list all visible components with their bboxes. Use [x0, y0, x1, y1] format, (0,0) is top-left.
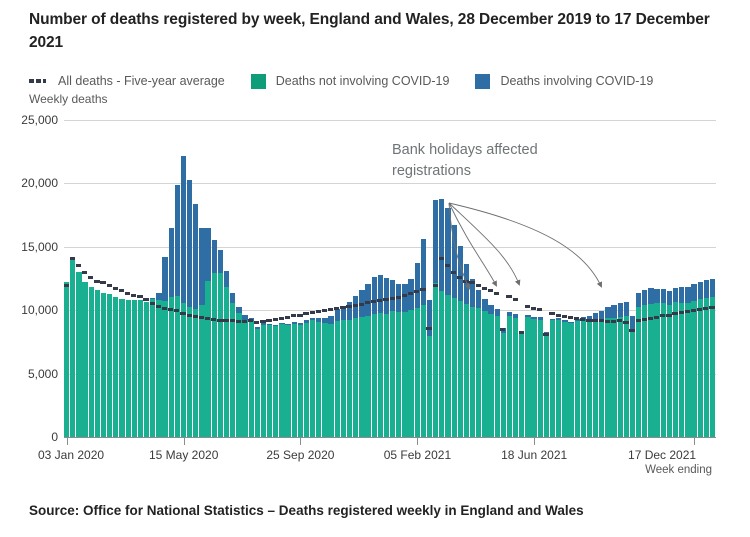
- bar-segment-non-covid: [169, 297, 174, 437]
- bar-segment-non-covid: [642, 305, 647, 437]
- five-year-average-marker: [457, 276, 462, 279]
- five-year-average-marker: [654, 316, 659, 319]
- bar-segment-non-covid: [175, 296, 180, 437]
- bar-segment-covid: [322, 318, 327, 324]
- bar-segment-non-covid: [126, 300, 131, 437]
- bar-segment-non-covid: [556, 320, 561, 437]
- five-year-average-marker: [439, 257, 444, 260]
- legend-label-covid: Deaths involving COVID-19: [500, 74, 653, 88]
- bar-segment-non-covid: [587, 320, 592, 437]
- five-year-average-marker: [383, 298, 388, 301]
- five-year-average-marker: [451, 271, 456, 274]
- five-year-average-marker: [359, 303, 364, 306]
- bar-segment-covid: [704, 280, 709, 298]
- bar-segment-non-covid: [661, 303, 666, 437]
- bar-segment-covid: [162, 257, 167, 301]
- five-year-average-marker: [174, 309, 179, 312]
- y-axis-tick-label: 25,000: [2, 113, 58, 127]
- bar-segment-covid: [304, 320, 309, 322]
- bar-segment-non-covid: [372, 314, 377, 437]
- bar-segment-non-covid: [704, 298, 709, 437]
- x-axis-tick: [694, 438, 695, 445]
- five-year-average-marker: [592, 319, 597, 322]
- five-year-average-marker: [709, 306, 714, 309]
- bar-segment-covid: [556, 318, 561, 320]
- bar-segment-covid: [279, 323, 284, 324]
- bar-segment-covid: [445, 208, 450, 296]
- bar-segment-non-covid: [667, 305, 672, 437]
- bar-segment-covid: [439, 199, 444, 291]
- bar-segment-non-covid: [310, 320, 315, 437]
- five-year-average-marker: [266, 319, 271, 322]
- bar-segment-covid: [310, 318, 315, 321]
- five-year-average-marker: [599, 319, 604, 322]
- bar-segment-covid: [538, 317, 543, 319]
- five-year-average-marker: [519, 331, 524, 334]
- bar-segment-covid: [507, 312, 512, 316]
- bar-segment-non-covid: [199, 305, 204, 437]
- bar-segment-covid: [605, 307, 610, 318]
- bar-segment-covid: [230, 293, 235, 303]
- bar-segment-non-covid: [267, 325, 272, 437]
- bar-segment-covid: [212, 240, 217, 273]
- bar-segment-non-covid: [378, 313, 383, 437]
- five-year-average-marker: [242, 320, 247, 323]
- five-year-average-marker: [531, 307, 536, 310]
- five-year-average-marker: [623, 321, 628, 324]
- bar-segment-non-covid: [427, 336, 432, 437]
- bar-segment-covid: [261, 323, 266, 325]
- five-year-average-marker: [94, 280, 99, 283]
- x-axis-tick: [67, 438, 68, 445]
- x-axis-tick-label: 15 May 2020: [149, 448, 218, 462]
- five-year-average-marker: [76, 264, 81, 267]
- five-year-average-marker: [143, 298, 148, 301]
- five-year-average-marker: [254, 321, 259, 324]
- bar-segment-non-covid: [648, 304, 653, 437]
- bar-segment-non-covid: [562, 322, 567, 437]
- bar-segment-non-covid: [64, 282, 69, 437]
- y-axis-title: Weekly deaths: [29, 92, 108, 106]
- bar-segment-non-covid: [507, 316, 512, 437]
- bar-segment-covid: [193, 204, 198, 308]
- bar-segment-non-covid: [408, 310, 413, 437]
- bar-segment-covid: [618, 303, 623, 317]
- source-note: Source: Office for National Statistics –…: [29, 503, 584, 518]
- bar-segment-non-covid: [605, 318, 610, 437]
- bar-segment-non-covid: [421, 305, 426, 437]
- bar-segment-covid: [267, 324, 272, 325]
- five-year-average-marker: [113, 287, 118, 290]
- bar-segment-non-covid: [495, 316, 500, 437]
- y-axis-tick-label: 0: [2, 430, 58, 444]
- five-year-average-marker: [537, 308, 542, 311]
- bar-segment-covid: [365, 284, 370, 317]
- bar-segment-covid: [292, 322, 297, 323]
- five-year-average-marker: [150, 302, 155, 305]
- bar-segment-non-covid: [636, 307, 641, 437]
- five-year-average-marker: [365, 301, 370, 304]
- bar-segment-non-covid: [193, 309, 198, 437]
- five-year-average-marker: [137, 295, 142, 298]
- x-axis-tick-label: 05 Feb 2021: [384, 448, 451, 462]
- five-year-average-marker: [131, 294, 136, 297]
- bar-segment-non-covid: [212, 273, 217, 437]
- five-year-average-marker: [285, 316, 290, 319]
- bar-segment-non-covid: [710, 297, 715, 437]
- bar-segment-covid: [298, 323, 303, 325]
- five-year-average-marker: [525, 305, 530, 308]
- bar-segment-covid: [458, 246, 463, 301]
- bar-segment-non-covid: [476, 308, 481, 437]
- bar-segment-non-covid: [550, 320, 555, 437]
- bar-segment-non-covid: [452, 298, 457, 437]
- y-axis-tick-label: 5,000: [2, 367, 58, 381]
- bar-segment-covid: [156, 293, 161, 300]
- bar-segment-non-covid: [531, 319, 536, 437]
- bar-segment-covid: [187, 180, 192, 307]
- five-year-average-marker: [396, 296, 401, 299]
- five-year-average-marker: [556, 314, 561, 317]
- bar-segment-covid: [285, 324, 290, 325]
- bar-segment-non-covid: [205, 281, 210, 437]
- bar-segment-non-covid: [396, 312, 401, 437]
- five-year-average-marker: [469, 281, 474, 284]
- x-axis-tick-label: 18 Jun 2021: [501, 448, 567, 462]
- bar-segment-non-covid: [341, 320, 346, 437]
- bar-segment-non-covid: [402, 312, 407, 437]
- page-title: Number of deaths registered by week, Eng…: [29, 8, 719, 54]
- bar-segment-covid: [402, 284, 407, 312]
- bar-segment-covid: [525, 315, 530, 318]
- five-year-average-marker: [199, 316, 204, 319]
- dashed-line-icon: [29, 76, 51, 86]
- bar-segment-non-covid: [458, 301, 463, 437]
- x-axis-tick-label: 03 Jan 2020: [38, 448, 104, 462]
- five-year-average-marker: [334, 307, 339, 310]
- bar-segment-covid: [255, 327, 260, 329]
- bar-segment-non-covid: [218, 273, 223, 437]
- bar-segment-non-covid: [162, 301, 167, 437]
- bar-segment-non-covid: [654, 303, 659, 437]
- bar-segment-covid: [568, 322, 573, 324]
- bar-segment-covid: [667, 291, 672, 305]
- five-year-average-marker: [248, 319, 253, 322]
- bar-segment-non-covid: [82, 282, 87, 437]
- bar-segment-non-covid: [599, 319, 604, 437]
- bar-segment-non-covid: [488, 314, 493, 437]
- bar-segment-covid: [316, 318, 321, 322]
- five-year-average-marker: [408, 292, 413, 295]
- five-year-average-marker: [230, 319, 235, 322]
- bar-segment-non-covid: [95, 290, 100, 437]
- bar-segment-covid: [150, 298, 155, 299]
- five-year-average-marker: [426, 327, 431, 330]
- swatch-icon-non-covid: [251, 74, 266, 89]
- five-year-average-marker: [100, 281, 105, 284]
- x-axis: Week ending 03 Jan 202015 May 202025 Sep…: [64, 438, 716, 478]
- five-year-average-marker: [642, 318, 647, 321]
- bar-segment-covid: [531, 317, 536, 319]
- bar-segment-non-covid: [691, 301, 696, 438]
- bar-segment-non-covid: [482, 311, 487, 437]
- five-year-average-marker: [617, 319, 622, 322]
- bar-segment-non-covid: [359, 317, 364, 437]
- five-year-average-marker: [316, 310, 321, 313]
- bar-segment-non-covid: [298, 325, 303, 437]
- bar-segment-covid: [390, 280, 395, 311]
- bar-segment-non-covid: [279, 324, 284, 437]
- bar-segment-non-covid: [236, 313, 241, 437]
- five-year-average-marker: [260, 320, 265, 323]
- bar-segment-non-covid: [224, 287, 229, 437]
- bar-segment-covid: [372, 277, 377, 314]
- plot-area: [64, 120, 716, 438]
- bar-segment-non-covid: [261, 325, 266, 437]
- bar-segment-non-covid: [353, 318, 358, 437]
- five-year-average-marker: [543, 333, 548, 336]
- bar-segment-non-covid: [390, 311, 395, 437]
- x-axis-tick-label: 17 Dec 2021: [628, 448, 696, 462]
- bar-segment-non-covid: [322, 323, 327, 437]
- five-year-average-marker: [513, 298, 518, 301]
- five-year-average-marker: [236, 320, 241, 323]
- five-year-average-marker: [562, 315, 567, 318]
- bar-segment-covid: [654, 289, 659, 304]
- x-axis-title: Week ending: [645, 464, 712, 476]
- bar-segment-non-covid: [119, 299, 124, 437]
- bar-segment-non-covid: [618, 317, 623, 437]
- bar-segment-non-covid: [415, 308, 420, 437]
- five-year-average-marker: [672, 312, 677, 315]
- five-year-average-marker: [279, 317, 284, 320]
- bar-segment-non-covid: [445, 295, 450, 437]
- five-year-average-marker: [414, 290, 419, 293]
- bar-segment-non-covid: [292, 324, 297, 437]
- five-year-average-marker: [340, 306, 345, 309]
- bar-segment-non-covid: [132, 300, 137, 437]
- five-year-average-marker: [156, 305, 161, 308]
- five-year-average-marker: [568, 316, 573, 319]
- five-year-average-marker: [297, 314, 302, 317]
- x-axis-tick: [300, 438, 301, 445]
- bar-segment-covid: [335, 309, 340, 320]
- five-year-average-marker: [353, 304, 358, 307]
- five-year-average-marker: [629, 329, 634, 332]
- five-year-average-marker: [586, 319, 591, 322]
- five-year-average-marker: [660, 314, 665, 317]
- bar-segment-non-covid: [255, 329, 260, 437]
- bar-segment-covid: [624, 302, 629, 316]
- bar-segment-non-covid: [138, 300, 143, 437]
- bar-segment-covid: [218, 250, 223, 273]
- five-year-average-marker: [162, 307, 167, 310]
- chart-legend: All deaths - Five-year average Deaths no…: [29, 72, 679, 90]
- bar-segment-covid: [273, 325, 278, 326]
- bar-segment-non-covid: [581, 320, 586, 437]
- bar-segment-non-covid: [464, 304, 469, 437]
- bar-segment-non-covid: [568, 323, 573, 437]
- bar-segment-covid: [224, 271, 229, 286]
- bar-segment-non-covid: [187, 307, 192, 437]
- bar-segment-non-covid: [181, 303, 186, 437]
- bar-segment-covid: [452, 225, 457, 298]
- bar-segment-non-covid: [89, 287, 94, 437]
- bar-segment-non-covid: [519, 334, 524, 437]
- five-year-average-marker: [482, 287, 487, 290]
- five-year-average-marker: [303, 312, 308, 315]
- five-year-average-marker: [697, 308, 702, 311]
- bar-segment-non-covid: [347, 320, 352, 437]
- bar-segment-covid: [476, 290, 481, 309]
- bar-segment-non-covid: [501, 333, 506, 438]
- five-year-average-marker: [322, 309, 327, 312]
- bar-segment-non-covid: [513, 318, 518, 437]
- five-year-average-marker: [611, 320, 616, 323]
- bar-segment-covid: [685, 287, 690, 303]
- bar-segment-covid: [384, 278, 389, 313]
- bar-segment-covid: [698, 282, 703, 299]
- bar-segment-covid: [710, 279, 715, 297]
- chart-page: Number of deaths registered by week, Eng…: [0, 0, 750, 537]
- bar-segment-non-covid: [273, 326, 278, 437]
- bar-segment-non-covid: [76, 272, 81, 437]
- five-year-average-marker: [223, 319, 228, 322]
- five-year-average-marker: [64, 284, 69, 287]
- five-year-average-marker: [494, 292, 499, 295]
- bar-segment-non-covid: [575, 321, 580, 437]
- y-axis-tick-label: 15,000: [2, 240, 58, 254]
- bar-segment-covid: [495, 309, 500, 315]
- five-year-average-marker: [390, 297, 395, 300]
- five-year-average-marker: [433, 284, 438, 287]
- bar-segment-non-covid: [230, 303, 235, 437]
- bar-segment-non-covid: [679, 303, 684, 438]
- bar-segment-covid: [464, 264, 469, 304]
- bar-segment-non-covid: [328, 324, 333, 437]
- bar-segment-covid: [673, 288, 678, 302]
- bar-segment-non-covid: [70, 259, 75, 437]
- five-year-average-marker: [580, 318, 585, 321]
- bar-segment-covid: [648, 288, 653, 303]
- five-year-average-marker: [605, 320, 610, 323]
- legend-item-covid[interactable]: Deaths involving COVID-19: [475, 74, 653, 89]
- bar-segment-non-covid: [685, 303, 690, 437]
- bar-segment-covid: [175, 185, 180, 296]
- five-year-average-marker: [648, 317, 653, 320]
- five-year-average-marker: [82, 271, 87, 274]
- bar-segment-non-covid: [304, 323, 309, 437]
- bar-segment-non-covid: [249, 321, 254, 437]
- bar-segment-covid: [593, 313, 598, 319]
- bar-segment-covid: [205, 228, 210, 281]
- five-year-average-marker: [420, 288, 425, 291]
- bar-segment-covid: [642, 290, 647, 305]
- bar-segment-non-covid: [144, 302, 149, 437]
- legend-label-non-covid: Deaths not involving COVID-19: [276, 74, 450, 88]
- swatch-icon-covid: [475, 74, 490, 89]
- five-year-average-marker: [500, 328, 505, 331]
- bar-segment-non-covid: [525, 317, 530, 437]
- five-year-average-marker: [346, 305, 351, 308]
- bar-segment-covid: [427, 300, 432, 337]
- bar-segment-covid: [562, 320, 567, 322]
- bar-segment-covid: [415, 263, 420, 309]
- five-year-average-marker: [291, 314, 296, 317]
- bar-segment-non-covid: [611, 318, 616, 437]
- y-axis-tick-labels: 05,00010,00015,00020,00025,000: [0, 120, 58, 438]
- bar-segment-covid: [181, 156, 186, 302]
- five-year-average-marker: [119, 289, 124, 292]
- bar-segment-non-covid: [698, 299, 703, 437]
- bar-segment-non-covid: [335, 321, 340, 437]
- five-year-average-marker: [217, 319, 222, 322]
- bar-segment-non-covid: [433, 283, 438, 437]
- bar-segment-non-covid: [544, 334, 549, 437]
- x-axis-tick: [184, 438, 185, 445]
- five-year-average-marker: [463, 280, 468, 283]
- five-year-average-marker: [310, 311, 315, 314]
- bar-segment-non-covid: [101, 293, 106, 437]
- five-year-average-marker: [125, 292, 130, 295]
- x-axis-tick: [534, 438, 535, 445]
- bar-segment-covid: [550, 319, 555, 321]
- five-year-average-marker: [328, 308, 333, 311]
- five-year-average-marker: [205, 317, 210, 320]
- five-year-average-marker: [703, 307, 708, 310]
- five-year-average-marker: [574, 317, 579, 320]
- bar-segment-covid: [599, 311, 604, 319]
- five-year-average-marker: [691, 309, 696, 312]
- bar-segment-non-covid: [107, 294, 112, 437]
- five-year-average-marker: [88, 276, 93, 279]
- bar-segment-non-covid: [439, 291, 444, 437]
- five-year-average-marker: [70, 257, 75, 260]
- bar-segment-non-covid: [150, 299, 155, 437]
- bar-segment-non-covid: [470, 307, 475, 437]
- five-year-average-marker: [193, 315, 198, 318]
- five-year-average-marker: [488, 289, 493, 292]
- five-year-average-marker: [636, 319, 641, 322]
- five-year-average-marker: [685, 310, 690, 313]
- bar-segment-covid: [513, 314, 518, 318]
- legend-item-non-covid[interactable]: Deaths not involving COVID-19: [251, 74, 450, 89]
- five-year-average-marker: [273, 318, 278, 321]
- bar-segment-covid: [630, 316, 635, 329]
- bar-segment-non-covid: [624, 316, 629, 437]
- bar-segment-covid: [661, 289, 666, 303]
- bar-segment-non-covid: [593, 319, 598, 437]
- bar-segment-covid: [691, 284, 696, 300]
- bar-segment-non-covid: [630, 329, 635, 437]
- legend-item-five-year-average[interactable]: All deaths - Five-year average: [29, 74, 225, 88]
- five-year-average-marker: [445, 264, 450, 267]
- five-year-average-marker: [506, 295, 511, 298]
- bar-segment-covid: [199, 228, 204, 305]
- x-axis-tick-label: 25 Sep 2020: [266, 448, 334, 462]
- five-year-average-marker: [476, 284, 481, 287]
- bar-segment-covid: [236, 307, 241, 313]
- five-year-average-marker: [211, 318, 216, 321]
- bar-segment-covid: [169, 228, 174, 297]
- bar-segment-non-covid: [113, 297, 118, 437]
- five-year-average-marker: [549, 312, 554, 315]
- y-axis-tick-label: 20,000: [2, 176, 58, 190]
- five-year-average-marker: [371, 300, 376, 303]
- bar-segment-non-covid: [285, 325, 290, 437]
- five-year-average-marker: [679, 311, 684, 314]
- annotation-bank-holidays: Bank holidays affected registrations: [392, 140, 542, 182]
